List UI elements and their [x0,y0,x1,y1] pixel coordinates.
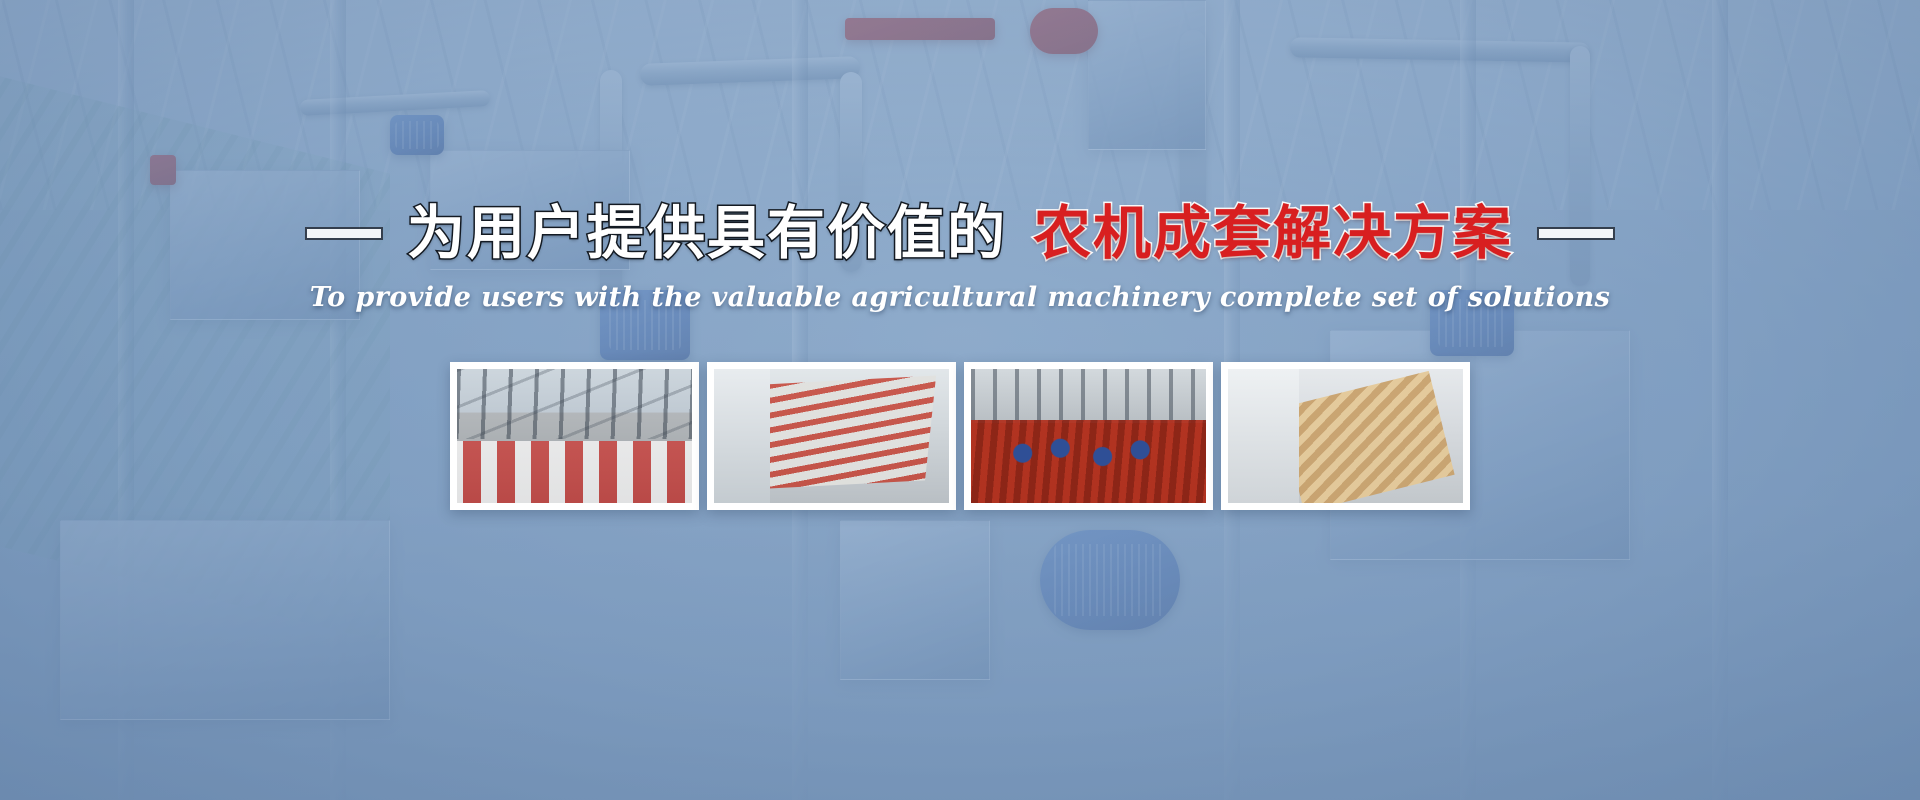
thumbnail-item-3[interactable] [964,362,1213,510]
thumbnail-image-incline-onion-conveyor [1228,369,1463,503]
headline-highlight-text: 农机成套解决方案 [1033,203,1513,264]
banner-content: 为用户提供具有价值的 农机成套解决方案 To provide users wit… [0,0,1920,800]
hero-banner: 为用户提供具有价值的 农机成套解决方案 To provide users wit… [0,0,1920,800]
thumbnail-image-workshop-trays-line [457,369,692,503]
thumbnail-image-workers-sorting-tomatoes [971,369,1206,503]
headline: 为用户提供具有价值的 农机成套解决方案 [307,203,1613,264]
thumbnail-strip [450,362,1470,510]
thumbnail-image-red-conveyor-line [714,369,949,503]
left-dash-decoration [307,229,381,238]
thumbnail-item-4[interactable] [1221,362,1470,510]
right-dash-decoration [1539,229,1613,238]
thumbnail-item-2[interactable] [707,362,956,510]
headline-subtitle: To provide users with the valuable agric… [310,282,1610,313]
thumbnail-item-1[interactable] [450,362,699,510]
headline-primary-text: 为用户提供具有价值的 [407,203,1007,264]
